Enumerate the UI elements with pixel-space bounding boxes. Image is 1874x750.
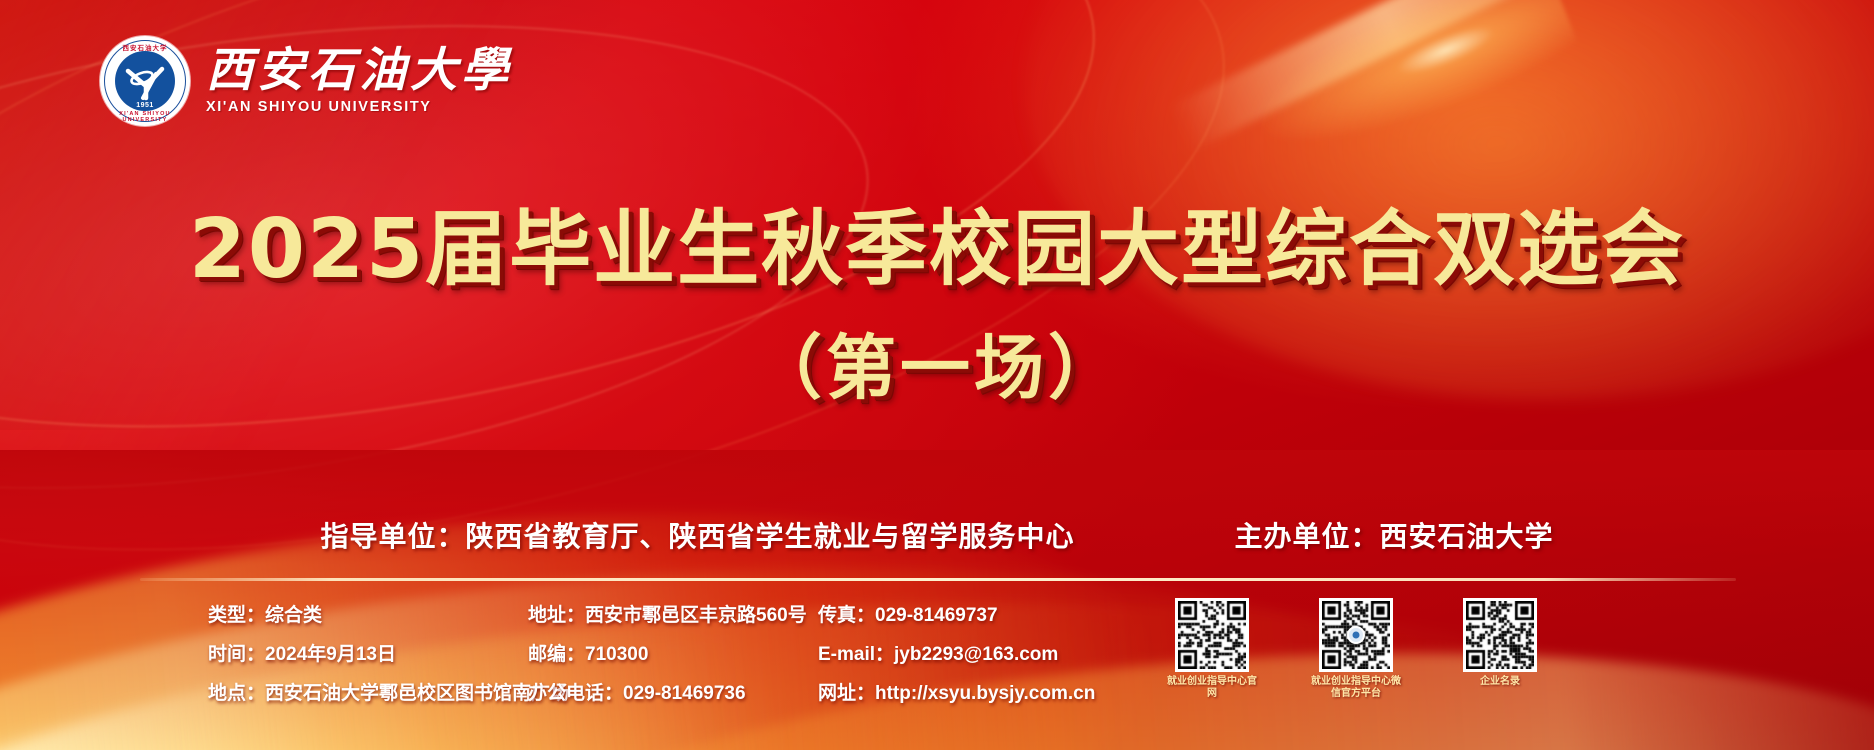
qr-code-website-icon [1175, 598, 1249, 672]
info-date: 时间：2024年9月13日 [208, 635, 528, 674]
guidance-unit-text: 指导单位：陕西省教育厅、陕西省学生就业与留学服务中心 [320, 515, 1074, 555]
seal-founding-year: 1951 [136, 102, 154, 109]
info-column-event: 类型：综合类 时间：2024年9月13日 地点：西安石油大学鄠邑校区图书馆南广场 [208, 596, 528, 713]
qr-code-company-list-icon [1463, 598, 1537, 672]
wechat-logo-icon [1347, 626, 1365, 644]
info-type: 类型：综合类 [208, 596, 528, 635]
info-venue: 地点：西安石油大学鄠邑校区图书馆南广场 [208, 674, 528, 713]
qr-item-wechat[interactable]: 就业创业指导中心微信官方平台 [1310, 598, 1402, 700]
qr-label-website: 就业创业指导中心官网 [1166, 676, 1258, 700]
info-office-phone: 办公电话：029-81469736 [528, 674, 818, 713]
logo-name-en: XI'AN SHIYOU UNIVERSITY [206, 99, 512, 115]
info-email: E-mail：jyb2293@163.com [818, 635, 1118, 674]
horizontal-divider [140, 578, 1736, 581]
seal-arc-bottom-text: XI'AN SHIYOU UNIVERSITY [100, 111, 190, 123]
info-website: 网址：http://xsyu.bysjy.com.cn [818, 674, 1118, 713]
university-seal-icon: 西安石油大学 XI'AN SHIYOU UNIVERSITY 1951 [100, 36, 190, 126]
logo-name-cn: 西安石油大學 [206, 47, 512, 96]
qr-code-group: 就业创业指导中心官网 就业创业指导中心微信官方平台 企业名录 [1166, 598, 1546, 700]
poster-title-sub: （第一场） [0, 312, 1874, 413]
info-address: 地址：西安市鄠邑区丰京路560号 [528, 596, 818, 635]
qr-item-company-list[interactable]: 企业名录 [1454, 598, 1546, 700]
info-fax: 传真：029-81469737 [818, 596, 1118, 635]
logo-text-block: 西安石油大學 XI'AN SHIYOU UNIVERSITY [206, 47, 512, 114]
info-column-address: 地址：西安市鄠邑区丰京路560号 邮编：710300 办公电话：029-8146… [528, 596, 818, 713]
qr-label-company-list: 企业名录 [1480, 676, 1520, 688]
info-postcode: 邮编：710300 [528, 635, 818, 674]
background-lens-flare [1235, 0, 1582, 178]
footer-info: 类型：综合类 时间：2024年9月13日 地点：西安石油大学鄠邑校区图书馆南广场… [0, 596, 1874, 716]
host-unit-text: 主办单位：西安石油大学 [1235, 515, 1554, 555]
seal-monogram-icon [122, 58, 168, 104]
qr-code-wechat-icon [1319, 598, 1393, 672]
poster-title-main: 2025届毕业生秋季校园大型综合双选会 [0, 182, 1874, 301]
qr-item-website[interactable]: 就业创业指导中心官网 [1166, 598, 1258, 700]
info-column-contact: 传真：029-81469737 E-mail：jyb2293@163.com 网… [818, 596, 1118, 713]
poster-banner: 西安石油大学 XI'AN SHIYOU UNIVERSITY 1951 西安石油… [0, 0, 1874, 750]
organizer-row: 指导单位：陕西省教育厅、陕西省学生就业与留学服务中心 主办单位：西安石油大学 [0, 515, 1874, 555]
qr-label-wechat: 就业创业指导中心微信官方平台 [1310, 676, 1402, 700]
university-logo: 西安石油大学 XI'AN SHIYOU UNIVERSITY 1951 西安石油… [100, 36, 512, 126]
